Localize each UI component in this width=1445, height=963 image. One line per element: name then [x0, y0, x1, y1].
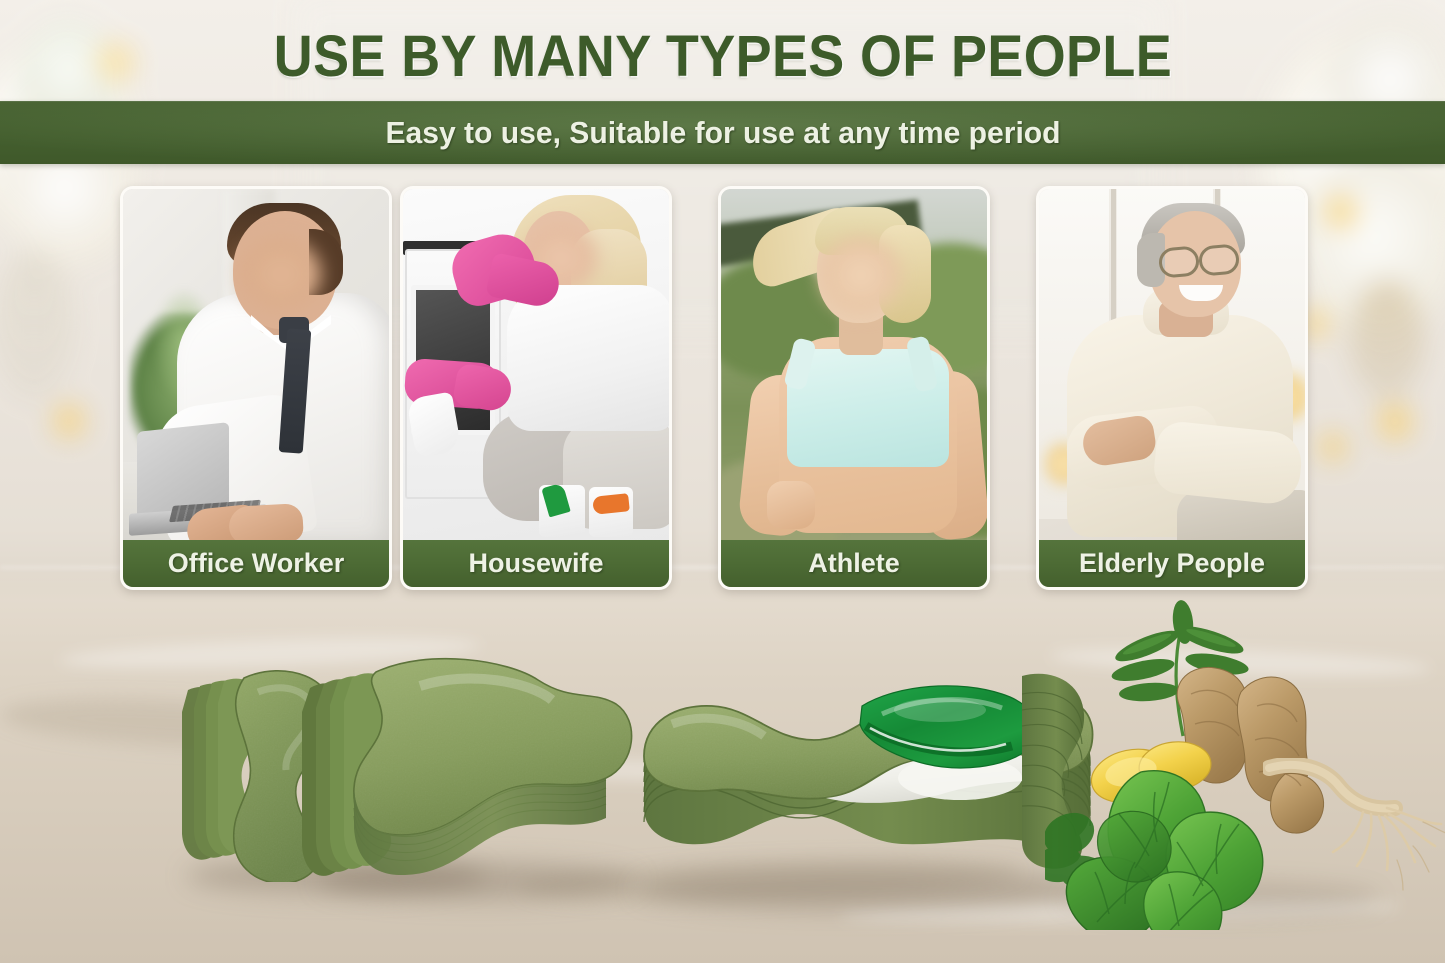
header-subtitle-banner: Easy to use, Suitable for use at any tim… [0, 101, 1445, 164]
card-label-elderly-people: Elderly People [1039, 540, 1305, 587]
card-label-text: Office Worker [168, 548, 345, 579]
athlete-photo [721, 189, 987, 587]
page-subtitle: Easy to use, Suitable for use at any tim… [385, 115, 1060, 151]
persona-card-housewife[interactable]: Housewife [400, 186, 672, 590]
persona-card-row: Office Worker [0, 186, 1445, 590]
card-label-text: Athlete [808, 548, 900, 579]
card-label-text: Housewife [468, 548, 603, 579]
persona-card-elderly-people[interactable]: Elderly People [1036, 186, 1308, 590]
ingredients-cluster [1035, 590, 1435, 930]
persona-card-athlete[interactable]: Athlete [718, 186, 990, 590]
patch-stack-middle[interactable] [300, 642, 650, 892]
elderly-people-photo [1039, 189, 1305, 587]
persona-card-office-worker[interactable]: Office Worker [120, 186, 392, 590]
blurred-face [821, 237, 901, 313]
blurred-face [241, 239, 321, 309]
product-display-area [0, 590, 1445, 963]
card-label-athlete: Athlete [721, 540, 987, 587]
header-title-area: USE BY MANY TYPES OF PEOPLE [0, 14, 1445, 98]
page-title: USE BY MANY TYPES OF PEOPLE [273, 23, 1171, 90]
card-label-office-worker: Office Worker [123, 540, 389, 587]
housewife-photo [403, 189, 669, 587]
mint-leaves-icon [1045, 758, 1305, 930]
card-label-housewife: Housewife [403, 540, 669, 587]
office-worker-photo [123, 189, 389, 587]
infographic-stage: USE BY MANY TYPES OF PEOPLE Easy to use,… [0, 0, 1445, 963]
card-label-text: Elderly People [1079, 548, 1265, 579]
